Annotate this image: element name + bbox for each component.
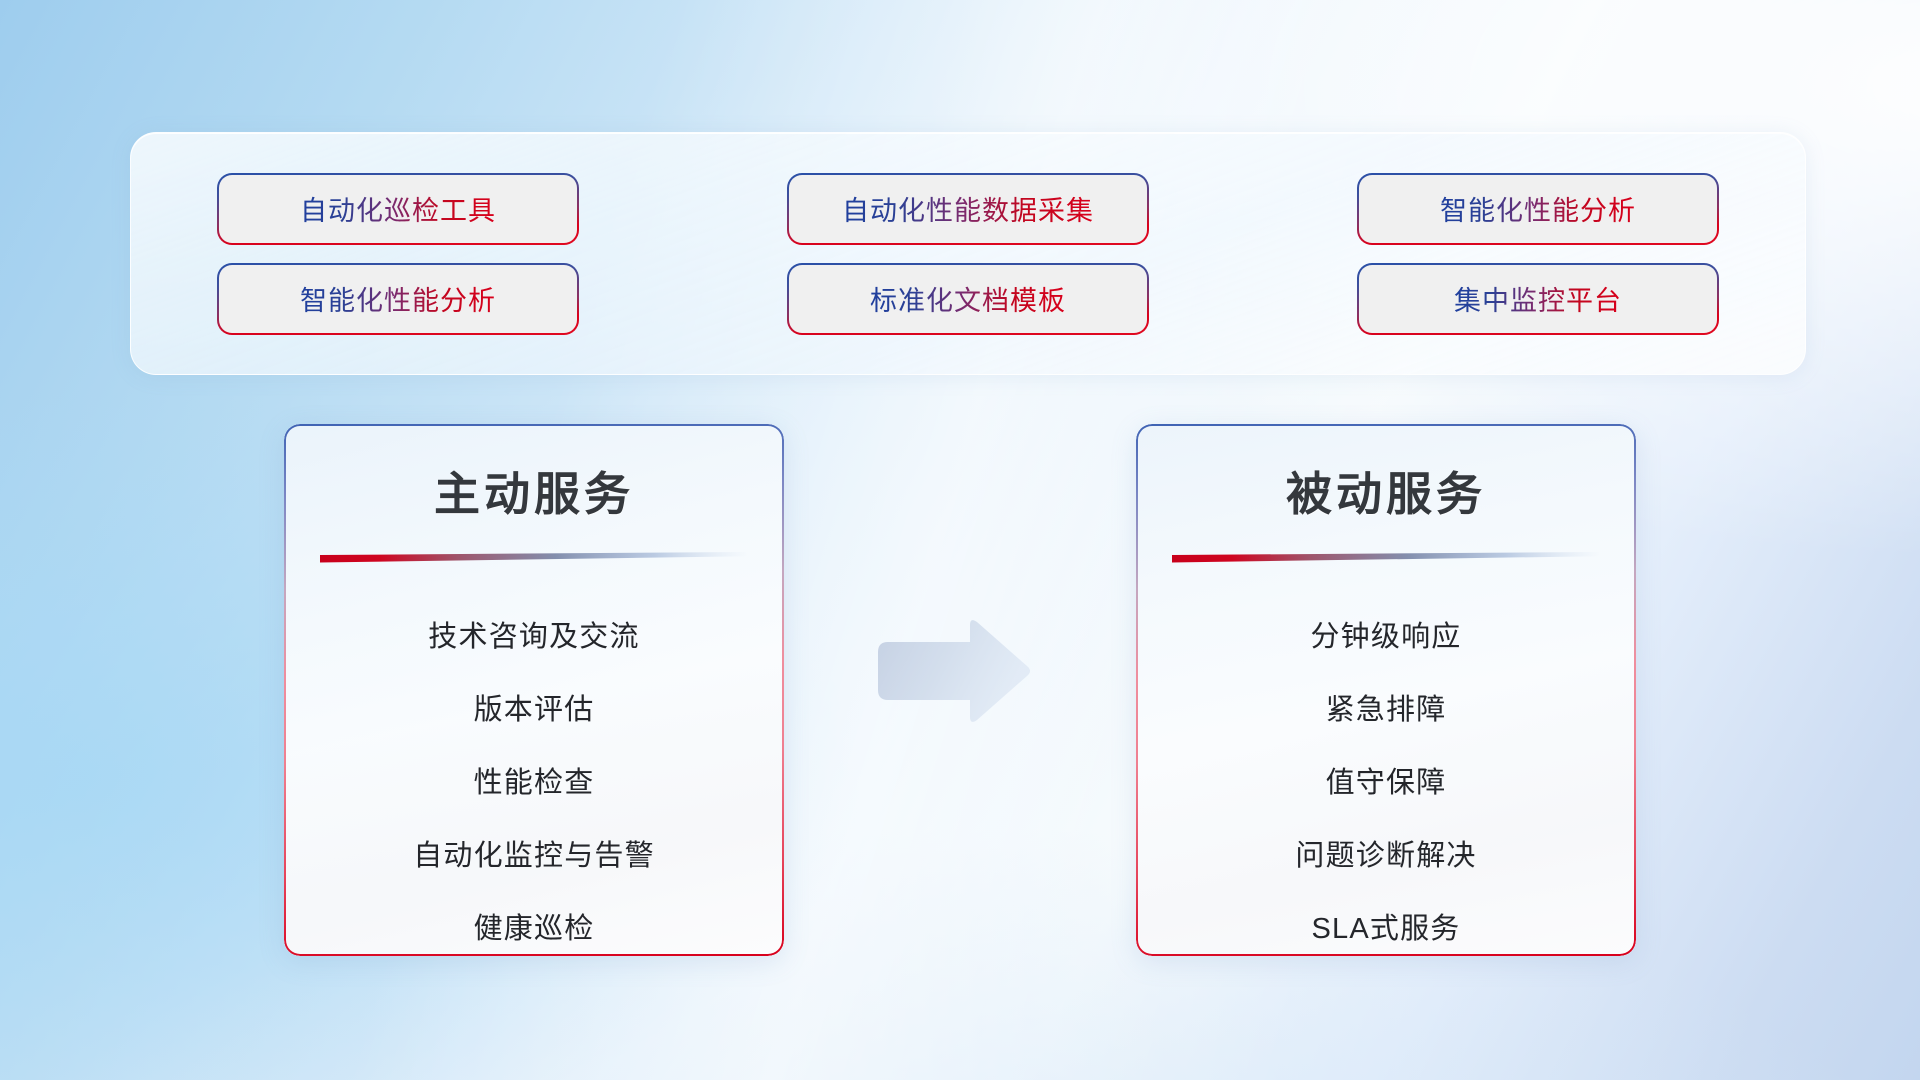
capability-pill-5[interactable]: 标准化文档模板: [789, 265, 1147, 333]
capability-row-1: 自动化巡检工具 自动化性能数据采集 智能化性能分析: [219, 175, 1717, 243]
service-list-proactive: 技术咨询及交流 版本评估 性能检查 自动化监控与告警 健康巡检: [284, 597, 784, 956]
capability-panel: 自动化巡检工具 自动化性能数据采集 智能化性能分析 智能化性能分析 标准化文档模…: [130, 132, 1806, 375]
list-item: 健康巡检: [284, 889, 784, 956]
card-title: 被动服务: [1136, 458, 1636, 524]
list-item: 分钟级响应: [1136, 597, 1636, 670]
capability-pill-2[interactable]: 自动化性能数据采集: [789, 175, 1147, 243]
capability-pill-1[interactable]: 自动化巡检工具: [219, 175, 577, 243]
service-card-reactive: 被动服务 分钟级响应 紧急排障 值守保障: [1136, 424, 1636, 956]
list-item: 紧急排障: [1136, 670, 1636, 743]
capability-pill-3[interactable]: 智能化性能分析: [1359, 175, 1717, 243]
list-item: 性能检查: [284, 743, 784, 816]
capability-pill-label: 自动化巡检工具: [300, 189, 496, 228]
card-divider: [1172, 552, 1600, 563]
capability-row-2: 智能化性能分析 标准化文档模板 集中监控平台: [219, 265, 1717, 333]
capability-pill-4[interactable]: 智能化性能分析: [219, 265, 577, 333]
capability-pill-label: 智能化性能分析: [1440, 189, 1636, 228]
capability-pill-label: 集中监控平台: [1454, 279, 1622, 318]
list-item: 版本评估: [284, 670, 784, 743]
list-item: 问题诊断解决: [1136, 816, 1636, 889]
list-item: SLA式服务: [1136, 889, 1636, 956]
card-divider: [320, 552, 748, 563]
service-card-proactive: 主动服务 技术咨询及交流 版本评估 性能检查: [284, 424, 784, 956]
arrow-right-icon: [872, 618, 1032, 728]
list-item: 技术咨询及交流: [284, 597, 784, 670]
card-title: 主动服务: [284, 458, 784, 524]
list-item: 自动化监控与告警: [284, 816, 784, 889]
capability-pill-label: 智能化性能分析: [300, 279, 496, 318]
list-item: 值守保障: [1136, 743, 1636, 816]
service-list-reactive: 分钟级响应 紧急排障 值守保障 问题诊断解决 SLA式服务: [1136, 597, 1636, 956]
capability-pill-6[interactable]: 集中监控平台: [1359, 265, 1717, 333]
slide-canvas: 自动化巡检工具 自动化性能数据采集 智能化性能分析 智能化性能分析 标准化文档模…: [0, 0, 1920, 1080]
capability-pill-label: 标准化文档模板: [870, 279, 1066, 318]
capability-pill-label: 自动化性能数据采集: [842, 189, 1094, 228]
